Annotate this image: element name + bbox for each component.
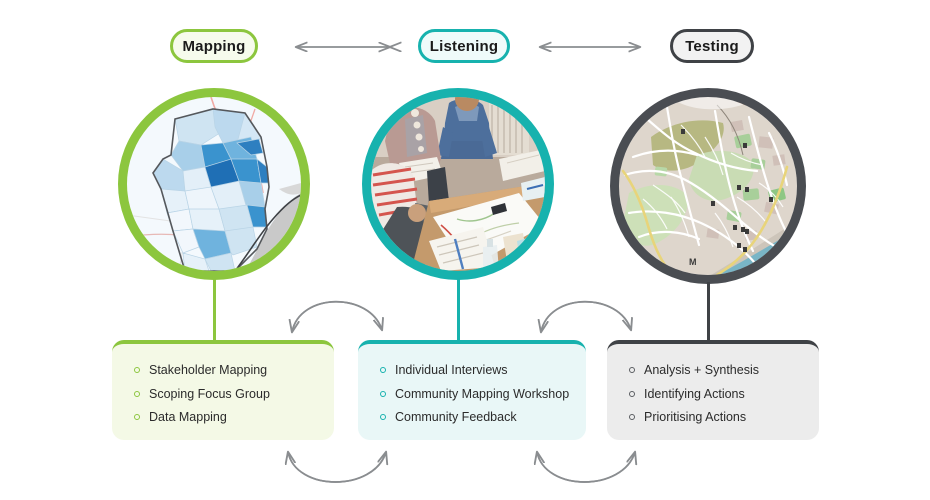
- diagram-canvas: M Mapping Listening Testing Stakeholder …: [0, 0, 930, 500]
- stage-label-testing-text: Testing: [685, 38, 739, 55]
- list-item-label: Identifying Actions: [644, 388, 745, 401]
- connector-mapping: [213, 278, 216, 342]
- bullet-icon: [629, 414, 635, 420]
- stage-items-listening: Individual Interviews Community Mapping …: [358, 340, 586, 440]
- bullet-icon: [134, 414, 140, 420]
- mapping-listening-curve-lower: [288, 452, 386, 482]
- bullet-icon: [380, 414, 386, 420]
- bullet-icon: [134, 391, 140, 397]
- mapping-listening-curve: [292, 302, 382, 332]
- list-item-label: Community Mapping Workshop: [395, 388, 569, 401]
- connector-listening: [457, 278, 460, 342]
- list-item[interactable]: Stakeholder Mapping: [134, 364, 334, 377]
- listening-testing-curve-lower: [537, 452, 635, 482]
- stage-label-mapping[interactable]: Mapping: [170, 29, 258, 63]
- list-item[interactable]: Analysis + Synthesis: [629, 364, 819, 377]
- list-item[interactable]: Data Mapping: [134, 411, 334, 424]
- bullet-icon: [380, 367, 386, 373]
- list-item-label: Analysis + Synthesis: [644, 364, 759, 377]
- list-item-label: Scoping Focus Group: [149, 388, 270, 401]
- stage-items-mapping: Stakeholder Mapping Scoping Focus Group …: [112, 340, 334, 440]
- stage-label-mapping-text: Mapping: [182, 38, 245, 55]
- list-item-label: Prioritising Actions: [644, 411, 746, 424]
- stage-circle-testing: [610, 88, 806, 284]
- list-item[interactable]: Individual Interviews: [380, 364, 586, 377]
- bullet-icon: [134, 367, 140, 373]
- list-item[interactable]: Community Mapping Workshop: [380, 388, 586, 401]
- list-item-label: Data Mapping: [149, 411, 227, 424]
- bullet-icon: [380, 391, 386, 397]
- list-item-label: Individual Interviews: [395, 364, 508, 377]
- list-item[interactable]: Community Feedback: [380, 411, 586, 424]
- bullet-icon: [629, 367, 635, 373]
- connector-testing: [707, 282, 710, 342]
- listening-testing-curve: [541, 302, 631, 332]
- list-item-label: Community Feedback: [395, 411, 517, 424]
- bullet-icon: [629, 391, 635, 397]
- stage-label-testing[interactable]: Testing: [670, 29, 754, 63]
- list-item[interactable]: Identifying Actions: [629, 388, 819, 401]
- list-item[interactable]: Scoping Focus Group: [134, 388, 334, 401]
- stage-label-listening[interactable]: Listening: [418, 29, 510, 63]
- list-item-label: Stakeholder Mapping: [149, 364, 267, 377]
- stage-circle-mapping: [118, 88, 310, 280]
- stage-items-testing: Analysis + Synthesis Identifying Actions…: [607, 340, 819, 440]
- list-item[interactable]: Prioritising Actions: [629, 411, 819, 424]
- stage-label-listening-text: Listening: [430, 38, 498, 55]
- stage-circle-listening: [362, 88, 554, 280]
